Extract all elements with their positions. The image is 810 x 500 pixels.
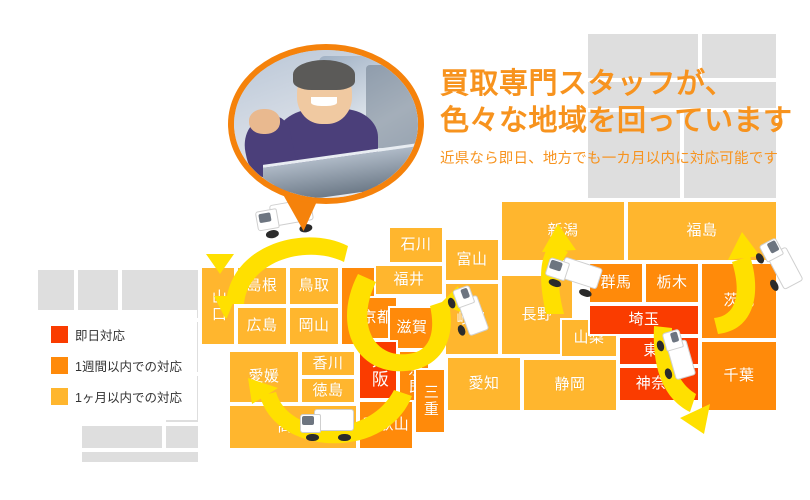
prefecture-label: 東京 — [643, 343, 674, 359]
legend-item-within-month[interactable]: 1ヶ月以内での対応 — [51, 387, 197, 406]
prefecture-ibaraki[interactable]: 茨城 — [700, 262, 778, 340]
prefecture-label: 高知 — [277, 419, 308, 435]
prefecture-label: 滋賀 — [396, 320, 427, 336]
prefecture-chiba[interactable]: 千葉 — [700, 340, 778, 412]
prefecture-label: 香川 — [312, 356, 343, 372]
legend-label: 即日対応 — [75, 325, 125, 344]
prefecture-toyama[interactable]: 富山 — [444, 238, 500, 282]
prefecture-wakayama[interactable]: 和歌山 — [358, 400, 414, 450]
prefecture-label: 三重 — [422, 384, 438, 418]
uncovered-block — [80, 450, 200, 464]
prefecture-hiroshima[interactable]: 広島 — [236, 306, 288, 346]
prefecture-label: 栃木 — [656, 275, 687, 291]
prefecture-kochi[interactable]: 高知 — [228, 404, 358, 450]
staff-photo — [228, 44, 424, 204]
prefecture-ehime[interactable]: 愛媛 — [228, 350, 300, 404]
prefecture-gunma[interactable]: 群馬 — [588, 262, 644, 304]
prefecture-label: 岡山 — [298, 318, 329, 334]
prefecture-label: 大阪 — [369, 351, 387, 389]
prefecture-aichi[interactable]: 愛知 — [446, 356, 522, 412]
prefecture-label: 埼玉 — [628, 312, 659, 328]
prefecture-shizuoka[interactable]: 静岡 — [522, 358, 618, 412]
legend-label: 1週間以内での対応 — [75, 356, 182, 375]
prefecture-label: 静岡 — [554, 377, 585, 393]
prefecture-label: 茨城 — [723, 293, 754, 309]
prefecture-ishikawa[interactable]: 石川 — [388, 226, 444, 264]
prefecture-tokyo[interactable]: 東京 — [618, 336, 700, 366]
prefecture-label: 千葉 — [723, 368, 754, 384]
prefecture-yamaguchi[interactable]: 山口 — [200, 266, 236, 346]
prefecture-label: 長野 — [521, 307, 552, 323]
infographic-canvas: 山口 島根 鳥取 広島 岡山 兵庫 京都 滋賀 大阪 奈良 三重 和歌山 愛媛 … — [0, 0, 810, 500]
prefecture-tochigi[interactable]: 栃木 — [644, 262, 700, 304]
prefecture-label: 石川 — [400, 237, 431, 253]
prefecture-label: 神奈川 — [636, 376, 683, 392]
legend-box: 即日対応 1週間以内での対応 1ヶ月以内での対応 — [35, 310, 197, 420]
prefecture-label: 広島 — [246, 318, 277, 334]
prefecture-label: 鳥取 — [298, 278, 329, 294]
prefecture-saitama[interactable]: 埼玉 — [588, 304, 700, 336]
prefecture-tokushima[interactable]: 徳島 — [300, 377, 356, 404]
prefecture-niigata[interactable]: 新潟 — [500, 200, 626, 262]
prefecture-label: 愛知 — [468, 376, 499, 392]
prefecture-label: 新潟 — [547, 223, 578, 239]
prefecture-mie[interactable]: 三重 — [414, 368, 446, 434]
headline-block: 買取専門スタッフが、 色々な地域を回っています 近県なら即日、地方でも一カ月以内… — [440, 66, 800, 168]
prefecture-okayama[interactable]: 岡山 — [288, 306, 340, 346]
headline-subtitle: 近県なら即日、地方でも一カ月以内に対応可能です — [440, 147, 800, 168]
prefecture-kanagawa[interactable]: 神奈川 — [618, 366, 700, 402]
prefecture-osaka[interactable]: 大阪 — [358, 340, 398, 400]
legend-item-within-week[interactable]: 1週間以内での対応 — [51, 356, 197, 375]
staff-photo-bubble — [228, 44, 424, 204]
legend-swatch-within-month — [51, 388, 68, 405]
prefecture-gifu[interactable]: 岐阜 — [444, 282, 500, 356]
uncovered-block — [164, 424, 200, 450]
prefecture-shimane[interactable]: 島根 — [236, 266, 288, 306]
prefecture-kagawa[interactable]: 香川 — [300, 350, 356, 377]
prefecture-label: 富山 — [456, 252, 487, 268]
prefecture-label: 島根 — [246, 278, 277, 294]
prefecture-label: 群馬 — [600, 275, 631, 291]
legend-label: 1ヶ月以内での対応 — [75, 387, 182, 406]
prefecture-label: 福井 — [393, 272, 424, 288]
prefecture-label: 山口 — [210, 289, 226, 323]
headline-line-1: 買取専門スタッフが、 — [440, 66, 800, 103]
legend-item-same-day[interactable]: 即日対応 — [51, 325, 197, 344]
legend-swatch-same-day — [51, 326, 68, 343]
prefecture-label: 岐阜 — [456, 311, 487, 327]
prefecture-fukui[interactable]: 福井 — [374, 264, 444, 296]
legend-swatch-within-week — [51, 357, 68, 374]
prefecture-tottori[interactable]: 鳥取 — [288, 266, 340, 306]
prefecture-label: 愛媛 — [248, 369, 279, 385]
prefecture-label: 福島 — [686, 223, 717, 239]
uncovered-block — [80, 424, 164, 450]
prefecture-label: 徳島 — [312, 383, 343, 399]
prefecture-fukushima[interactable]: 福島 — [626, 200, 778, 262]
prefecture-label: 和歌山 — [363, 417, 410, 433]
headline-line-2: 色々な地域を回っています — [440, 103, 800, 140]
